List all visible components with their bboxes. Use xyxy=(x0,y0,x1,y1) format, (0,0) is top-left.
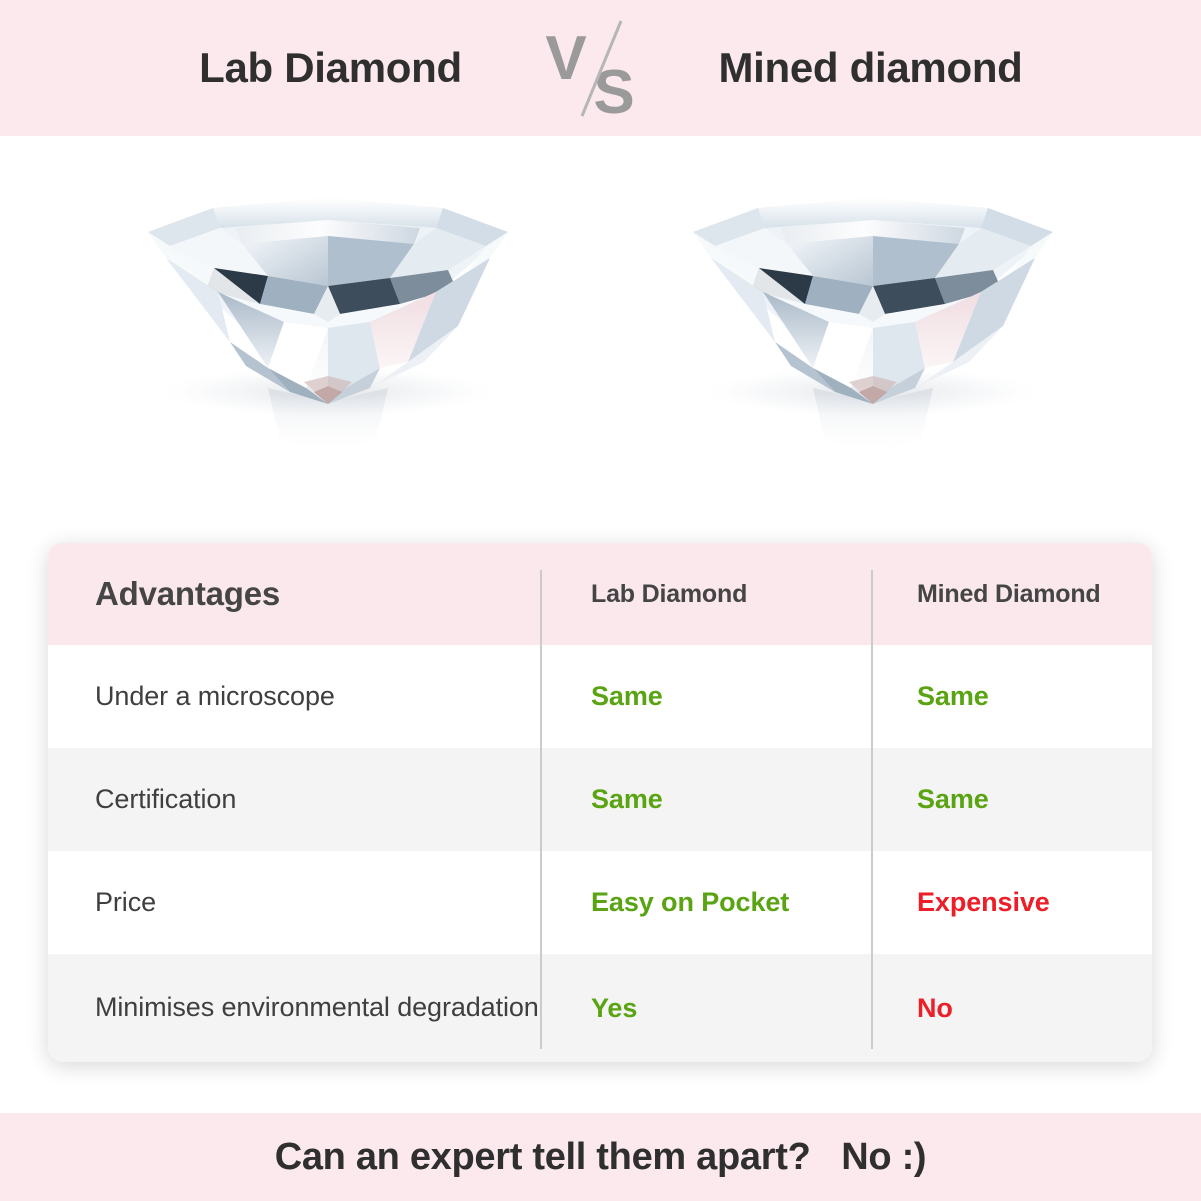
column-header-mined-diamond: Mined Diamond xyxy=(872,580,1152,609)
table-row: Price Easy on Pocket Expensive xyxy=(48,851,1152,954)
row-value-lab-certification: Same xyxy=(541,784,872,815)
footer-band: Can an expert tell them apart? No :) xyxy=(0,1113,1201,1201)
row-label-certification: Certification xyxy=(48,781,541,818)
row-value-lab-under-a-microscope: Same xyxy=(541,681,872,712)
row-label-under-a-microscope: Under a microscope xyxy=(48,678,541,715)
row-value-lab-price: Easy on Pocket xyxy=(541,887,872,918)
table-row: Under a microscope Same Same xyxy=(48,645,1152,748)
row-value-mined-under-a-microscope: Same xyxy=(872,681,1152,712)
svg-text:V: V xyxy=(546,24,587,93)
row-value-mined-price: Expensive xyxy=(872,887,1152,918)
header-title-mined: Mined diamond xyxy=(656,44,1086,92)
comparison-card: Advantages Lab Diamond Mined Diamond Und… xyxy=(48,543,1152,1062)
table-header-row: Advantages Lab Diamond Mined Diamond xyxy=(48,543,1152,645)
row-label-price: Price xyxy=(48,884,541,921)
header-title-lab: Lab Diamond xyxy=(116,44,546,92)
row-value-mined-minimises-environmental-degradation: No xyxy=(872,993,1152,1024)
row-value-lab-minimises-environmental-degradation: Yes xyxy=(541,993,872,1024)
vs-separator-icon: V S xyxy=(546,13,656,123)
column-divider-1 xyxy=(540,570,542,1049)
table-row: Minimises environmental degradation Yes … xyxy=(48,954,1152,1062)
diamond-gallery xyxy=(0,136,1201,526)
comparison-table: Advantages Lab Diamond Mined Diamond Und… xyxy=(48,543,1152,1062)
svg-text:S: S xyxy=(593,58,634,123)
column-header-lab-diamond: Lab Diamond xyxy=(541,580,872,609)
table-row: Certification Same Same xyxy=(48,748,1152,851)
row-value-mined-certification: Same xyxy=(872,784,1152,815)
diamond-image-mined xyxy=(601,136,1146,526)
column-divider-2 xyxy=(871,570,873,1049)
footer-question: Can an expert tell them apart? No :) xyxy=(275,1136,927,1179)
diamond-image-lab xyxy=(56,136,601,526)
row-label-minimises-environmental-degradation: Minimises environmental degradation xyxy=(48,989,541,1026)
header-band: Lab Diamond V S Mined diamond xyxy=(0,0,1201,136)
column-header-advantages: Advantages xyxy=(48,575,541,613)
